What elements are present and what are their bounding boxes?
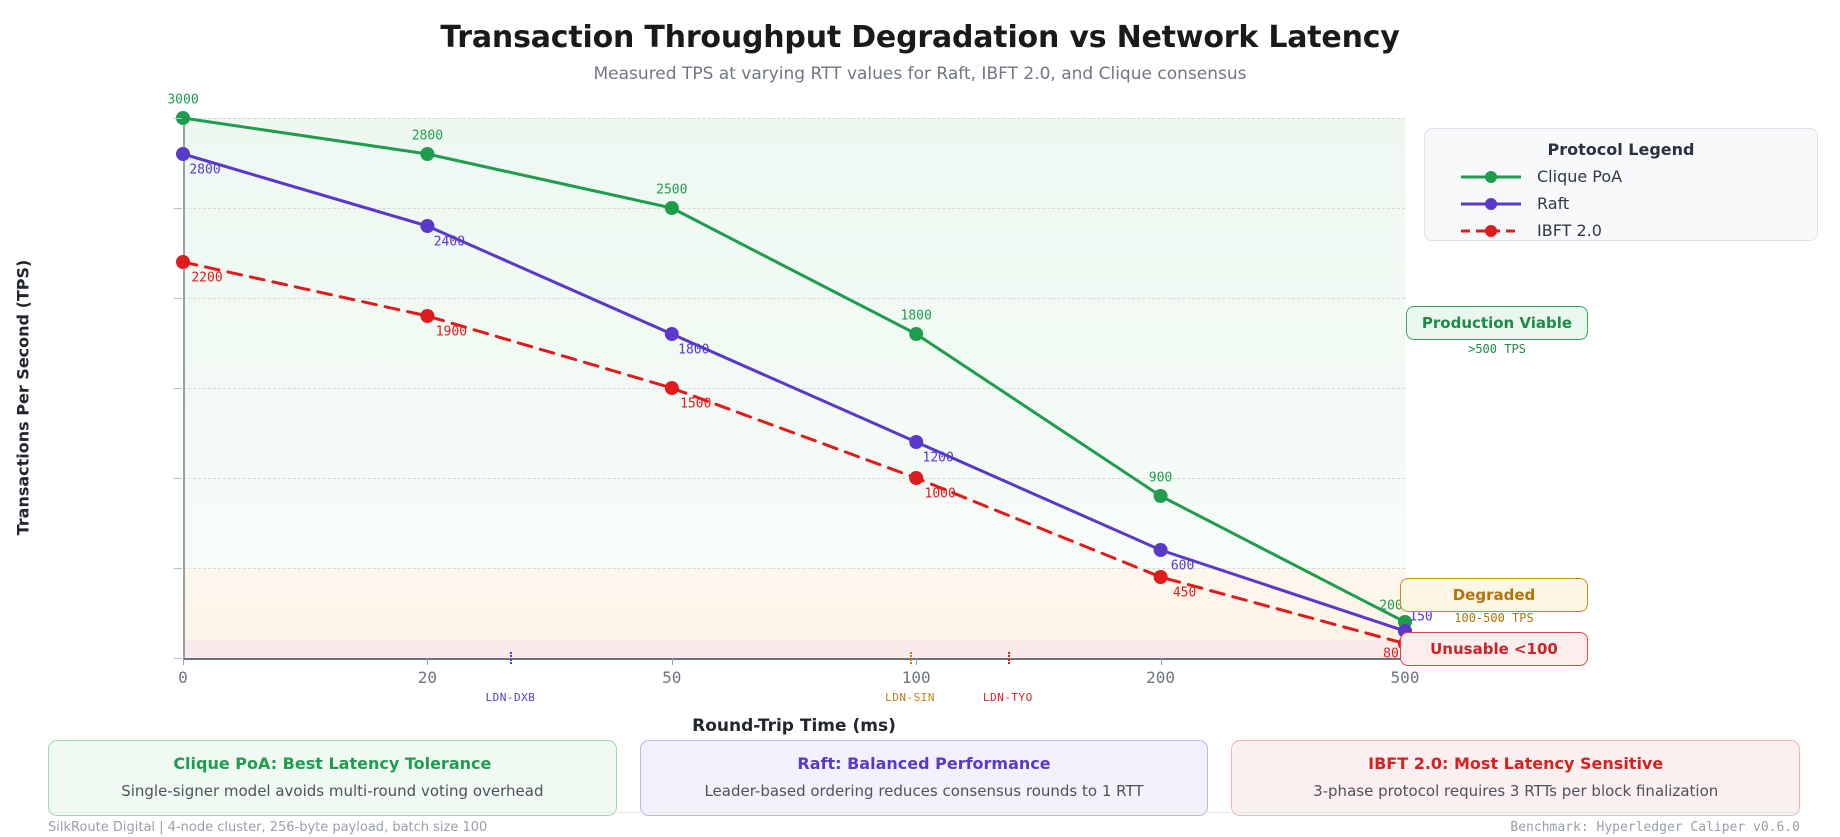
route-tick — [1008, 652, 1010, 664]
legend-item-ibft[interactable]: IBFT 2.0 — [1425, 221, 1817, 240]
card-ibft: IBFT 2.0: Most Latency Sensitive 3-phase… — [1231, 740, 1800, 816]
y-tick-mark — [174, 388, 182, 389]
x-tick-label: 100 — [902, 668, 931, 687]
data-point[interactable] — [420, 309, 434, 323]
data-point-label: 2500 — [656, 183, 687, 198]
footer-right-text: Benchmark: Hyperledger Caliper v0.6.0 — [1510, 820, 1800, 835]
x-tick-label: 50 — [662, 668, 681, 687]
legend-item-clique[interactable]: Clique PoA — [1425, 167, 1817, 186]
y-tick-mark — [174, 298, 182, 299]
data-point[interactable] — [665, 201, 679, 215]
x-axis-line — [183, 658, 1405, 660]
legend-swatch-ibft — [1459, 223, 1523, 239]
series-lines — [183, 118, 1405, 658]
page-title: Transaction Throughput Degradation vs Ne… — [0, 20, 1840, 55]
page-subtitle: Measured TPS at varying RTT values for R… — [0, 64, 1840, 84]
route-label: LDN-DXB — [486, 691, 536, 704]
card-ibft-body: 3-phase protocol requires 3 RTTs per blo… — [1242, 782, 1789, 800]
data-point-label: 3000 — [167, 93, 198, 108]
data-point[interactable] — [909, 471, 923, 485]
legend-swatch-raft — [1459, 196, 1523, 212]
data-point[interactable] — [420, 147, 434, 161]
x-axis-title: Round-Trip Time (ms) — [183, 716, 1405, 736]
zone-badge-degraded: Degraded — [1400, 578, 1588, 612]
data-point-label: 2800 — [412, 129, 443, 144]
data-point[interactable] — [176, 255, 190, 269]
legend-label-raft: Raft — [1537, 194, 1569, 213]
card-raft-title: Raft: Balanced Performance — [651, 754, 1198, 773]
data-point[interactable] — [1154, 570, 1168, 584]
data-point[interactable] — [1154, 543, 1168, 557]
data-point[interactable] — [665, 381, 679, 395]
data-point[interactable] — [909, 327, 923, 341]
x-tick-label: 20 — [418, 668, 437, 687]
y-axis-title: Transactions Per Second (TPS) — [14, 228, 33, 568]
legend-label-clique: Clique PoA — [1537, 167, 1622, 186]
x-tick-mark — [183, 658, 184, 665]
x-tick-mark — [672, 658, 673, 665]
data-point-label: 80 — [1383, 646, 1399, 661]
zone-badge-unusable: Unusable <100 — [1400, 632, 1588, 666]
data-point-label: 2400 — [434, 235, 465, 250]
series-line-raft — [183, 154, 1405, 631]
data-point-label: 1000 — [925, 487, 956, 502]
y-tick-mark — [174, 478, 182, 479]
series-line-ibft-2-0 — [183, 262, 1405, 644]
legend: Protocol Legend Clique PoA Raft — [1424, 128, 1818, 241]
data-point[interactable] — [176, 147, 190, 161]
insight-cards: Clique PoA: Best Latency Tolerance Singl… — [48, 740, 1800, 816]
route-label: LDN-SIN — [885, 691, 935, 704]
data-point-label: 450 — [1173, 586, 1196, 601]
y-tick-mark — [174, 658, 182, 659]
footer-left-text: SilkRoute Digital | 4-node cluster, 256-… — [48, 820, 487, 835]
plot-area: 3000280025001800900200280024001800120060… — [183, 118, 1405, 658]
data-point-label: 1900 — [436, 325, 467, 340]
zone-badge-production-viable: Production Viable — [1406, 306, 1588, 340]
y-tick-mark — [174, 118, 182, 119]
y-tick-mark — [174, 568, 182, 569]
card-clique-title: Clique PoA: Best Latency Tolerance — [59, 754, 606, 773]
zone-sub-production-viable: >500 TPS — [1468, 342, 1526, 356]
data-point-label: 900 — [1149, 471, 1172, 486]
y-tick-mark — [174, 208, 182, 209]
series-line-clique-poa — [183, 118, 1405, 622]
card-raft: Raft: Balanced Performance Leader-based … — [640, 740, 1209, 816]
x-tick-mark — [1161, 658, 1162, 665]
legend-title: Protocol Legend — [1425, 140, 1817, 159]
x-tick-mark — [916, 658, 917, 665]
data-point-label: 2800 — [189, 163, 220, 178]
x-tick-label: 500 — [1391, 668, 1420, 687]
x-tick-mark — [427, 658, 428, 665]
footer-divider — [48, 812, 1800, 813]
card-ibft-title: IBFT 2.0: Most Latency Sensitive — [1242, 754, 1789, 773]
legend-item-raft[interactable]: Raft — [1425, 194, 1817, 213]
data-point-label: 1500 — [680, 397, 711, 412]
route-tick — [510, 652, 512, 664]
x-tick-label: 0 — [178, 668, 188, 687]
route-tick — [910, 652, 912, 664]
x-tick-label: 200 — [1146, 668, 1175, 687]
data-point-label: 1200 — [923, 451, 954, 466]
data-point[interactable] — [909, 435, 923, 449]
legend-swatch-clique — [1459, 169, 1523, 185]
card-raft-body: Leader-based ordering reduces consensus … — [651, 782, 1198, 800]
zone-sub-degraded: 100-500 TPS — [1454, 611, 1533, 625]
data-point[interactable] — [420, 219, 434, 233]
card-clique-body: Single-signer model avoids multi-round v… — [59, 782, 606, 800]
data-point-label: 600 — [1171, 559, 1194, 574]
legend-label-ibft: IBFT 2.0 — [1537, 221, 1602, 240]
data-point-label: 1800 — [901, 309, 932, 324]
data-point-label: 2200 — [191, 271, 222, 286]
data-point[interactable] — [665, 327, 679, 341]
route-label: LDN-TYO — [983, 691, 1033, 704]
card-clique: Clique PoA: Best Latency Tolerance Singl… — [48, 740, 617, 816]
chart-page: Transaction Throughput Degradation vs Ne… — [0, 0, 1840, 837]
data-point-label: 1800 — [678, 343, 709, 358]
data-point[interactable] — [1154, 489, 1168, 503]
